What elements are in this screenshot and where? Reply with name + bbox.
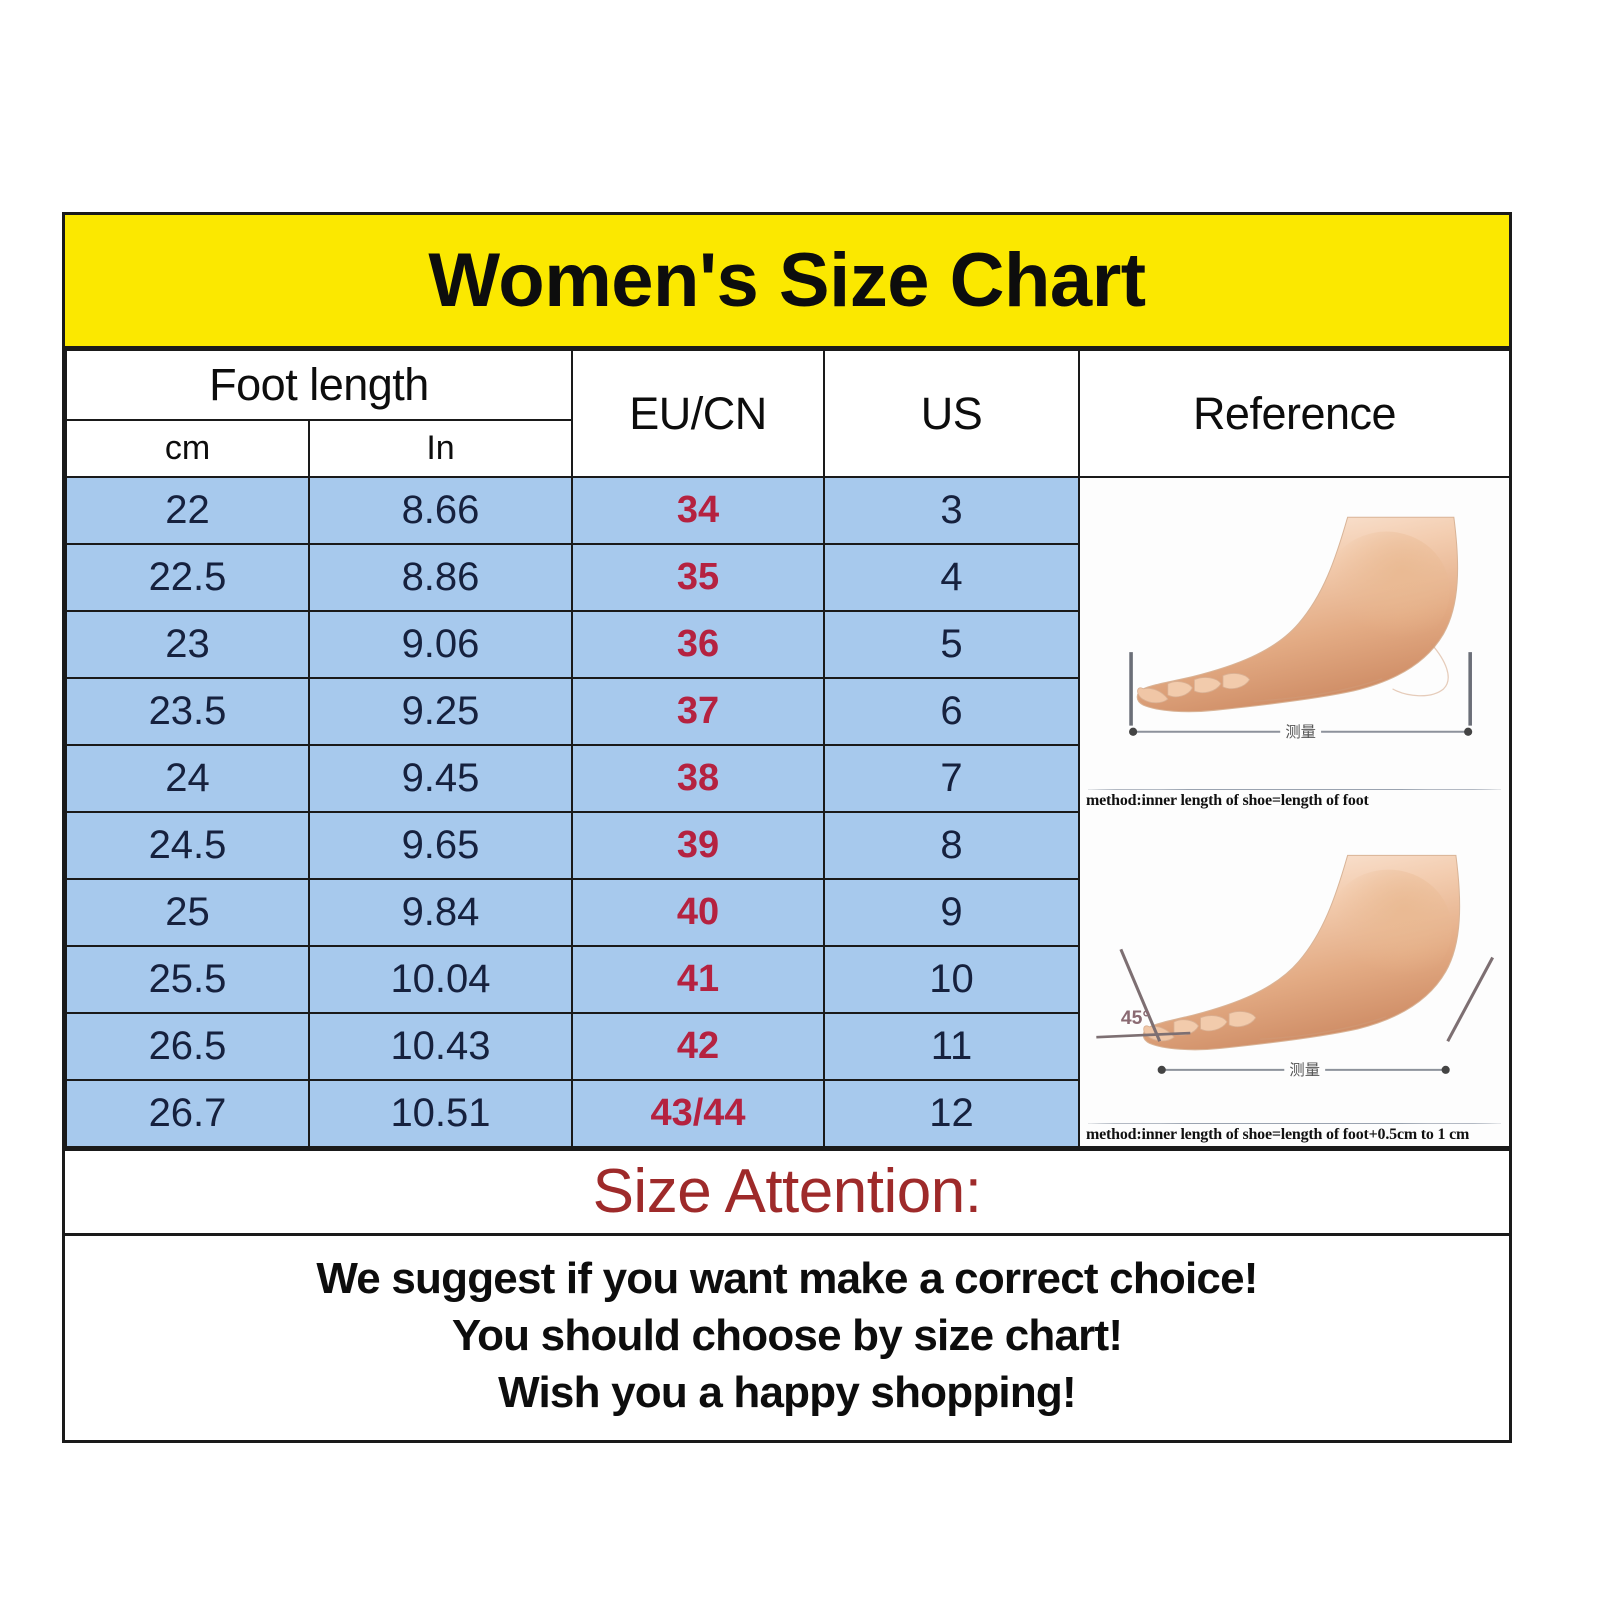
foot-diagram-2: 45° 测量 [1080,812,1509,1123]
size-chart-page: Women's Size Chart Foot length EU/CN US … [0,0,1600,1600]
cell-eu: 39 [572,812,824,879]
cell-us: 9 [824,879,1079,946]
foot-side-view-icon: 测量 [1080,478,1509,789]
cell-us: 12 [824,1080,1079,1147]
cell-eu: 35 [572,544,824,611]
attention-note-line: We suggest if you want make a correct ch… [65,1250,1509,1307]
cell-us: 10 [824,946,1079,1013]
reference-divider-1 [1088,789,1501,790]
cell-eu: 37 [572,678,824,745]
cell-in: 10.43 [309,1013,572,1080]
cell-cm: 25 [66,879,309,946]
attention-band: Size Attention: [65,1148,1509,1236]
cell-us: 5 [824,611,1079,678]
cell-us: 3 [824,477,1079,544]
reference-caption-2: method:inner length of shoe=length of fo… [1080,1126,1509,1146]
attention-note-line: Wish you a happy shopping! [65,1364,1509,1421]
reference-diagrams-cell: 测量 method:inner length of shoe=length of… [1079,477,1510,1147]
cell-in: 8.86 [309,544,572,611]
svg-text:测量: 测量 [1285,724,1316,741]
svg-text:测量: 测量 [1289,1062,1320,1079]
attention-note-line: You should choose by size chart! [65,1307,1509,1364]
cell-cm: 23 [66,611,309,678]
header-reference: Reference [1079,350,1510,477]
attention-notes: We suggest if you want make a correct ch… [65,1236,1509,1440]
attention-heading: Size Attention: [593,1161,982,1223]
cell-eu: 43/44 [572,1080,824,1147]
cell-in: 10.51 [309,1080,572,1147]
header-us: US [824,350,1079,477]
cell-eu: 42 [572,1013,824,1080]
cell-in: 9.25 [309,678,572,745]
header-eu-cn: EU/CN [572,350,824,477]
cell-cm: 23.5 [66,678,309,745]
size-chart-frame: Women's Size Chart Foot length EU/CN US … [62,212,1512,1443]
header-cm: cm [66,420,309,477]
reference-stack: 测量 method:inner length of shoe=length of… [1080,478,1509,1146]
cell-cm: 24.5 [66,812,309,879]
cell-us: 8 [824,812,1079,879]
cell-cm: 26.7 [66,1080,309,1147]
cell-cm: 22 [66,477,309,544]
cell-eu: 38 [572,745,824,812]
cell-cm: 25.5 [66,946,309,1013]
cell-us: 4 [824,544,1079,611]
foot-angle-measure-icon: 45° 测量 [1080,812,1509,1123]
cell-in: 9.45 [309,745,572,812]
table-row: 22 8.66 34 3 [66,477,1510,544]
cell-us: 6 [824,678,1079,745]
cell-eu: 41 [572,946,824,1013]
size-table: Foot length EU/CN US Reference cm In 22 … [65,349,1511,1148]
cell-in: 10.04 [309,946,572,1013]
table-header-row-1: Foot length EU/CN US Reference [66,350,1510,420]
cell-eu: 40 [572,879,824,946]
cell-cm: 24 [66,745,309,812]
cell-eu: 36 [572,611,824,678]
cell-in: 9.84 [309,879,572,946]
header-in: In [309,420,572,477]
cell-eu: 34 [572,477,824,544]
reference-caption-1: method:inner length of shoe=length of fo… [1080,792,1509,812]
header-foot-length: Foot length [66,350,572,420]
page-title: Women's Size Chart [428,243,1145,319]
cell-us: 7 [824,745,1079,812]
cell-us: 11 [824,1013,1079,1080]
cell-in: 9.65 [309,812,572,879]
cell-in: 8.66 [309,477,572,544]
reference-divider-2 [1088,1123,1501,1124]
cell-in: 9.06 [309,611,572,678]
svg-text:45°: 45° [1121,1007,1150,1029]
foot-diagram-1: 测量 [1080,478,1509,789]
title-banner: Women's Size Chart [65,215,1509,349]
cell-cm: 26.5 [66,1013,309,1080]
cell-cm: 22.5 [66,544,309,611]
